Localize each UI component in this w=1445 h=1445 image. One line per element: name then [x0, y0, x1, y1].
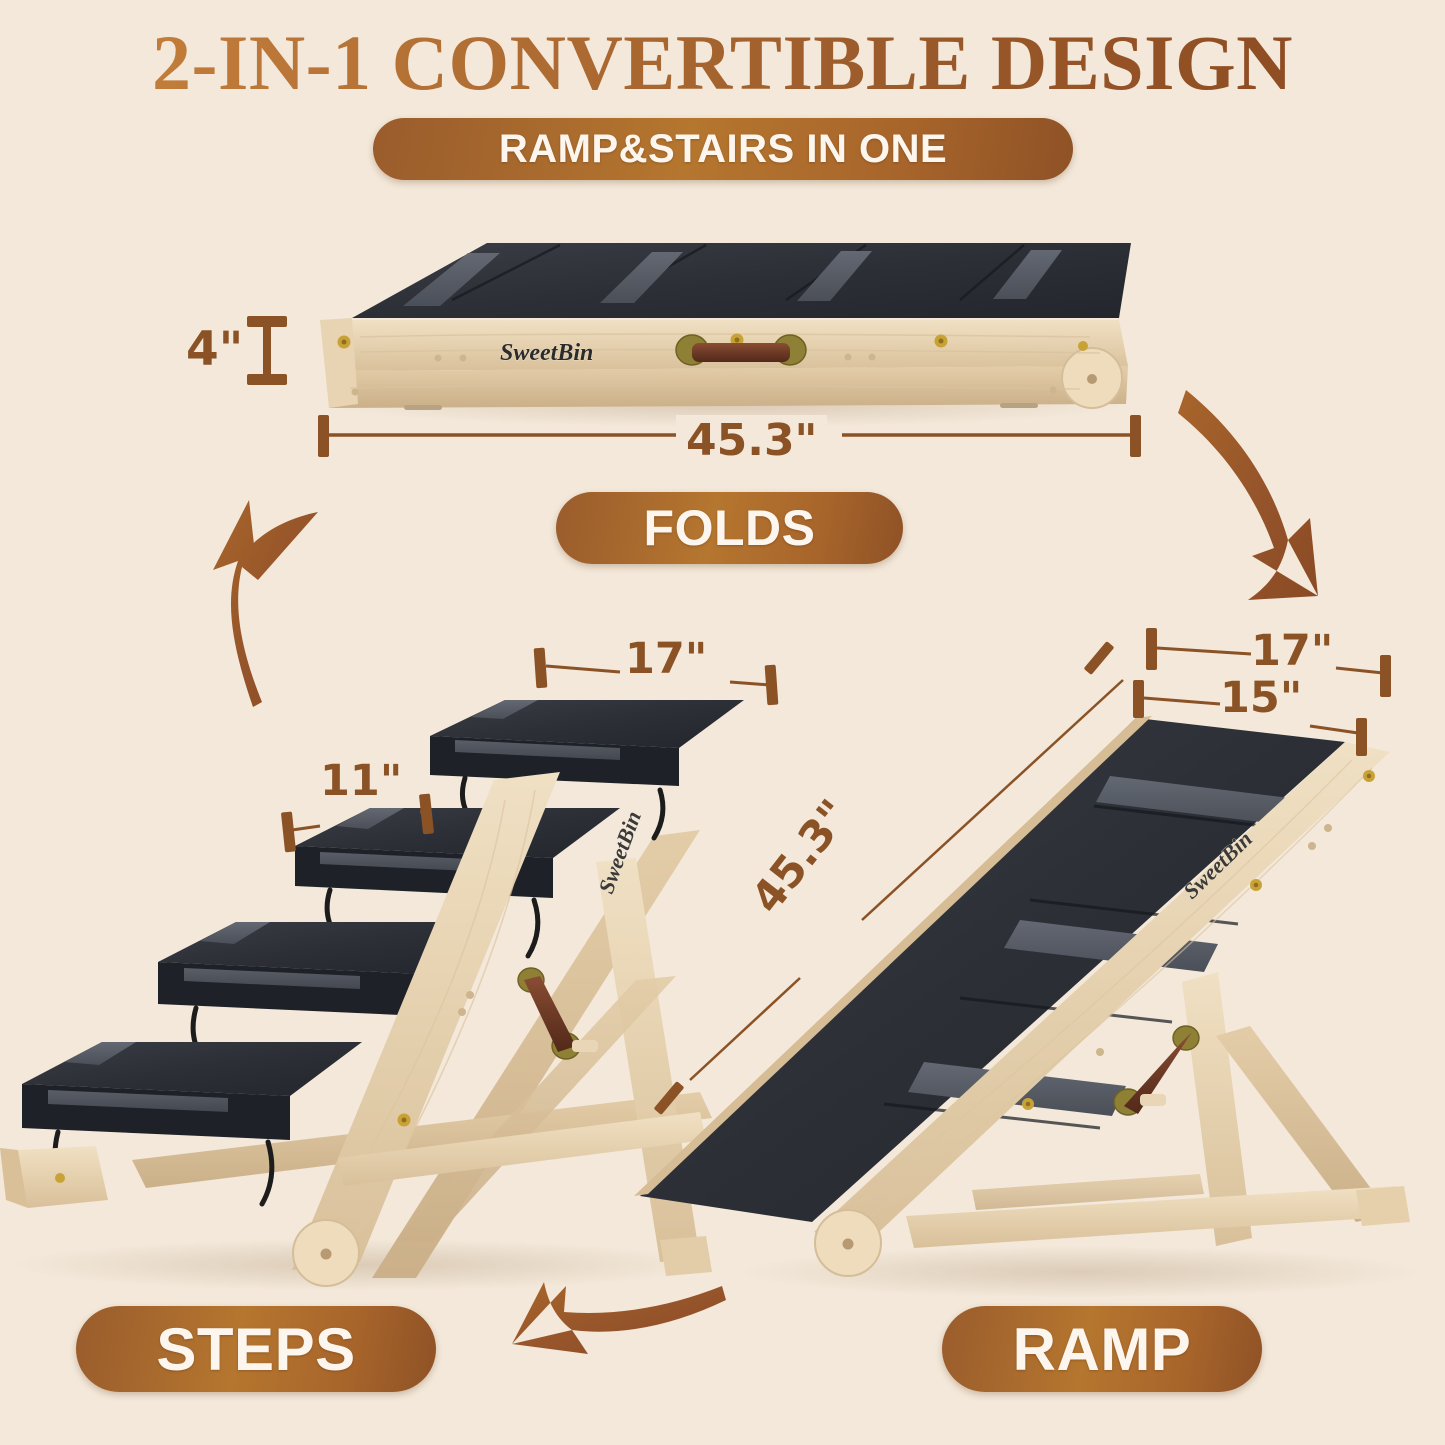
- step-tread: [22, 1042, 362, 1140]
- dimension-label-ramp-width: 17": [1251, 626, 1333, 676]
- folds-badge: FOLDS: [556, 492, 903, 564]
- arrow-left-bottom-icon: [512, 1282, 726, 1354]
- brand-logo-ramp: SweetBin: [1178, 826, 1257, 903]
- folded-product-image: SweetBin: [320, 243, 1131, 427]
- infographic-canvas: 2-IN-1 CONVERTIBLE DESIGN RAMP&STAIRS IN…: [0, 0, 1445, 1445]
- dimension-label-height: 4": [186, 322, 243, 377]
- carry-handle: [676, 335, 806, 365]
- page-title: 2-IN-1 CONVERTIBLE DESIGN: [0, 18, 1445, 108]
- leather-strap-steps: [518, 968, 580, 1059]
- dim-marker-ramp-length-453in: [654, 641, 1123, 1115]
- dimension-label-folded-length: 45.3": [676, 415, 827, 466]
- ramp-product-image: SweetBin: [634, 716, 1420, 1298]
- dimension-label-ramp-length: 45.3": [742, 791, 861, 923]
- brand-logo-steps: SweetBin: [593, 808, 646, 897]
- leather-strap-ramp: [1114, 1026, 1199, 1115]
- arrow-down-right-icon: [1178, 390, 1318, 600]
- step-tread: [158, 922, 492, 1016]
- arrow-up-left-icon: [213, 500, 318, 707]
- steps-badge: STEPS: [76, 1306, 436, 1392]
- dimension-label-steps-width: 17": [625, 634, 707, 684]
- dimension-label-tread-depth: 11": [320, 756, 402, 806]
- ramp-badge: RAMP: [942, 1306, 1262, 1392]
- subtitle-badge: RAMP&STAIRS IN ONE: [373, 118, 1073, 180]
- step-tread: [295, 808, 620, 898]
- step-tread: [430, 700, 744, 786]
- dim-marker-height-4in: [247, 316, 287, 385]
- brand-logo-folded: SweetBin: [500, 340, 593, 366]
- dimension-label-ramp-surface: 15": [1220, 673, 1302, 723]
